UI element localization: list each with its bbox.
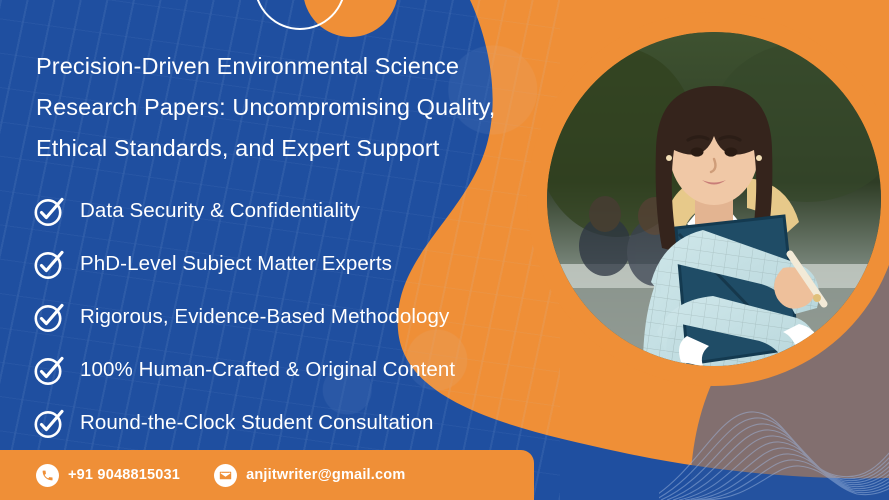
check-circle-icon: [32, 300, 66, 334]
check-circle-icon: [32, 353, 66, 387]
portrait-photo: [547, 32, 881, 366]
feature-label: PhD-Level Subject Matter Experts: [80, 252, 392, 276]
headline-line-2: Research Papers: Uncompromising Quality,: [36, 87, 506, 128]
contact-bar: +91 9048815031 anjitwriter@gmail.com: [0, 450, 534, 500]
feature-item: Rigorous, Evidence-Based Methodology: [32, 292, 532, 342]
feature-item: Data Security & Confidentiality: [32, 186, 532, 236]
headline-line-1: Precision-Driven Environmental Science: [36, 46, 506, 87]
feature-label: 100% Human-Crafted & Original Content: [80, 358, 455, 382]
check-circle-icon: [32, 247, 66, 281]
feature-list: Data Security & Confidentiality PhD-Leve…: [32, 186, 532, 451]
email-address: anjitwriter@gmail.com: [246, 467, 405, 483]
phone-contact[interactable]: +91 9048815031: [36, 464, 180, 487]
phone-icon: [36, 464, 59, 487]
feature-item: 100% Human-Crafted & Original Content: [32, 345, 532, 395]
envelope-icon: [214, 464, 237, 487]
feature-label: Data Security & Confidentiality: [80, 199, 360, 223]
phone-number: +91 9048815031: [68, 467, 180, 483]
check-circle-icon: [32, 194, 66, 228]
headline: Precision-Driven Environmental Science R…: [36, 46, 506, 169]
promo-banner: Precision-Driven Environmental Science R…: [0, 0, 889, 500]
check-circle-icon: [32, 406, 66, 440]
feature-label: Round-the-Clock Student Consultation: [80, 411, 433, 435]
email-contact[interactable]: anjitwriter@gmail.com: [214, 464, 405, 487]
feature-item: Round-the-Clock Student Consultation: [32, 398, 532, 448]
decorative-wave-lines: [659, 350, 889, 500]
headline-line-3: Ethical Standards, and Expert Support: [36, 128, 506, 169]
feature-label: Rigorous, Evidence-Based Methodology: [80, 305, 449, 329]
feature-item: PhD-Level Subject Matter Experts: [32, 239, 532, 289]
